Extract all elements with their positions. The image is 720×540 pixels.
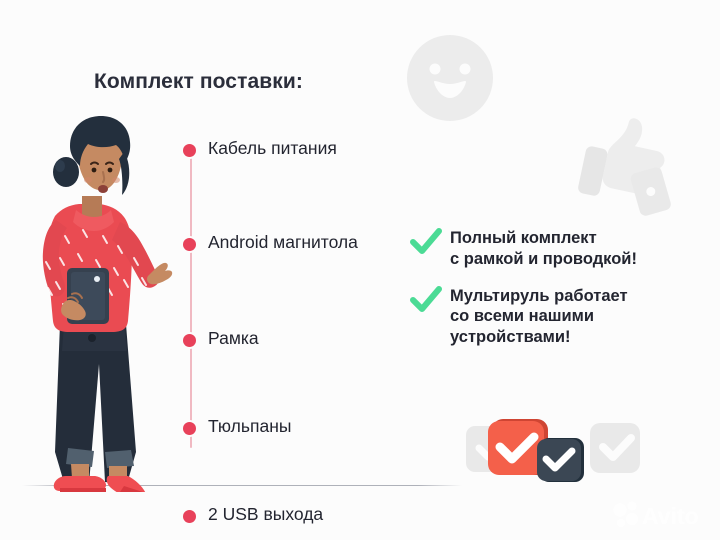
thumbs-up-icon [572, 112, 682, 216]
list-item-label: Кабель питания [208, 138, 337, 158]
page-title: Комплект поставки: [94, 70, 303, 94]
feature-item: Мультируль работает со всеми нашими устр… [410, 286, 700, 348]
bullet-dot-icon [183, 422, 196, 435]
woman-with-tablet-illustration [8, 112, 178, 492]
checkbox-gray-right [590, 423, 640, 473]
smiley-face-icon [404, 32, 496, 124]
bullet-dot-icon [183, 510, 196, 523]
green-check-icon [410, 286, 442, 314]
checkbox-dark [537, 438, 584, 482]
list-item-label: 2 USB выхода [208, 504, 323, 524]
promo-canvas: Комплект поставки: Кабель питания Androi… [0, 0, 720, 540]
feature-item: Полный комплект с рамкой и проводкой! [410, 228, 700, 270]
watermark-text: Avito [642, 503, 699, 529]
feature-highlights: Полный комплект с рамкой и проводкой! Му… [410, 228, 700, 364]
bullet-dot-icon [183, 144, 196, 157]
bullet-spine-line [190, 148, 192, 448]
list-item-label: Тюльпаны [208, 416, 291, 436]
feature-text: Мультируль работает со всеми нашими устр… [450, 287, 628, 347]
bullet-dot-icon [183, 238, 196, 251]
avito-watermark: Avito [612, 498, 712, 530]
list-item-label: Рамка [208, 328, 259, 348]
bullet-dot-icon [183, 334, 196, 347]
green-check-icon [410, 228, 442, 256]
feature-text: Полный комплект с рамкой и проводкой! [450, 229, 637, 268]
checkbox-cluster-illustration [462, 414, 642, 486]
list-item-label: Android магнитола [208, 232, 358, 252]
